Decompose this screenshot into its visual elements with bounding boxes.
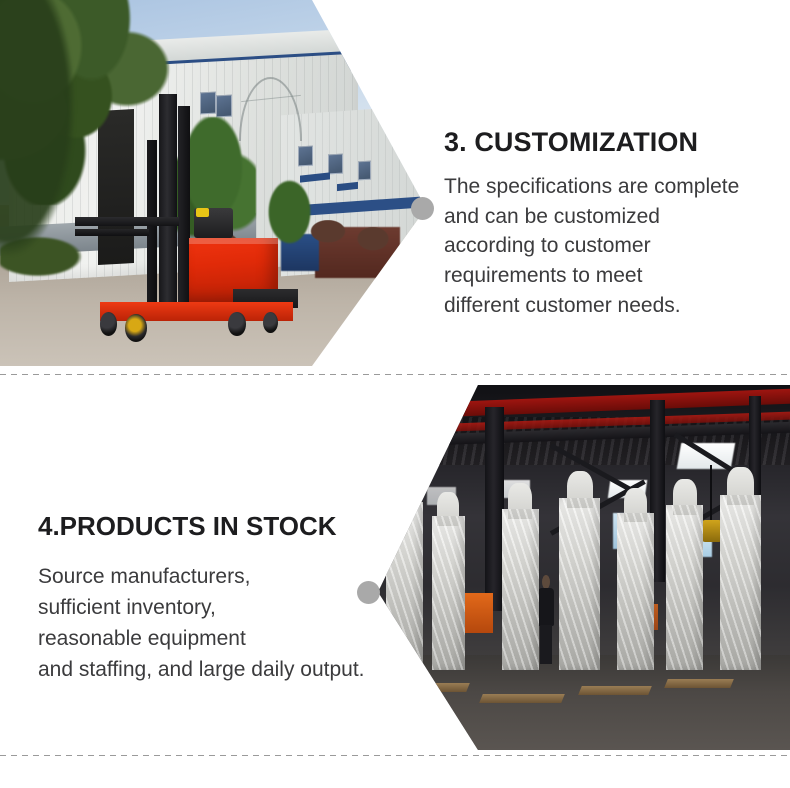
body-line: requirements to meet bbox=[444, 261, 790, 291]
wood-pallet bbox=[578, 686, 652, 695]
products-in-stock-title: 4.PRODUCTS IN STOCK bbox=[38, 512, 438, 541]
wheel bbox=[228, 312, 245, 335]
crane-chain bbox=[710, 465, 712, 523]
wrapped-product-top bbox=[673, 479, 697, 515]
wrapped-product bbox=[666, 505, 703, 669]
red-body-highlight bbox=[189, 238, 278, 244]
customization-body: The specifications are complete and can … bbox=[444, 172, 790, 321]
body-line: and can be customized bbox=[444, 202, 790, 232]
body-line: different customer needs. bbox=[444, 291, 790, 321]
wrapped-product bbox=[720, 495, 761, 670]
warehouse-exterior-scene bbox=[0, 0, 426, 366]
wrapped-product-top bbox=[508, 483, 532, 518]
products-in-stock-photo bbox=[378, 385, 790, 750]
marker-dot-customization bbox=[411, 197, 434, 220]
shrub bbox=[354, 227, 392, 253]
customization-text-block: 3. CUSTOMIZATION The specifications are … bbox=[444, 128, 790, 321]
customization-photo bbox=[0, 0, 426, 366]
body-line: according to customer bbox=[444, 231, 790, 261]
dashed-divider-top bbox=[0, 374, 790, 375]
foreground-tree-canopy bbox=[0, 0, 85, 278]
dashed-divider-bottom bbox=[0, 755, 790, 756]
fork-tines bbox=[75, 217, 179, 226]
wheel bbox=[125, 314, 147, 342]
wood-pallet bbox=[479, 694, 565, 703]
wrapped-product bbox=[559, 498, 600, 670]
products-in-stock-body: Source manufacturers, sufficient invento… bbox=[38, 561, 438, 685]
worker-torso bbox=[538, 588, 555, 627]
window bbox=[216, 95, 232, 118]
factory-worker bbox=[537, 575, 556, 663]
wrapped-product-top bbox=[624, 488, 648, 523]
warehouse-interior-scene bbox=[378, 385, 790, 750]
wood-pallet bbox=[665, 679, 735, 688]
worker-head bbox=[542, 575, 550, 589]
wrapped-product-top bbox=[437, 492, 458, 526]
wrapped-product bbox=[617, 513, 654, 670]
window bbox=[358, 161, 371, 181]
customization-title: 3. CUSTOMIZATION bbox=[444, 128, 790, 158]
marker-dot-products-in-stock bbox=[357, 581, 380, 604]
wrapped-product-top bbox=[393, 475, 417, 512]
body-line: reasonable equipment bbox=[38, 623, 438, 654]
worker-legs bbox=[540, 625, 552, 664]
body-line: and staffing, and large daily output. bbox=[38, 654, 438, 685]
body-line: The specifications are complete bbox=[444, 172, 790, 202]
wrapped-product-top bbox=[727, 467, 753, 506]
wrapped-product-top bbox=[567, 471, 593, 509]
section-customization: 3. CUSTOMIZATION The specifications are … bbox=[0, 0, 790, 374]
wheel bbox=[100, 312, 117, 335]
wheel bbox=[263, 312, 278, 333]
promo-banner: 3. CUSTOMIZATION The specifications are … bbox=[0, 0, 790, 788]
handle-yellow-grip bbox=[196, 208, 208, 216]
window bbox=[200, 91, 216, 114]
section-products-in-stock: 4.PRODUCTS IN STOCK Source manufacturers… bbox=[0, 385, 790, 755]
wrapped-product bbox=[502, 509, 539, 670]
